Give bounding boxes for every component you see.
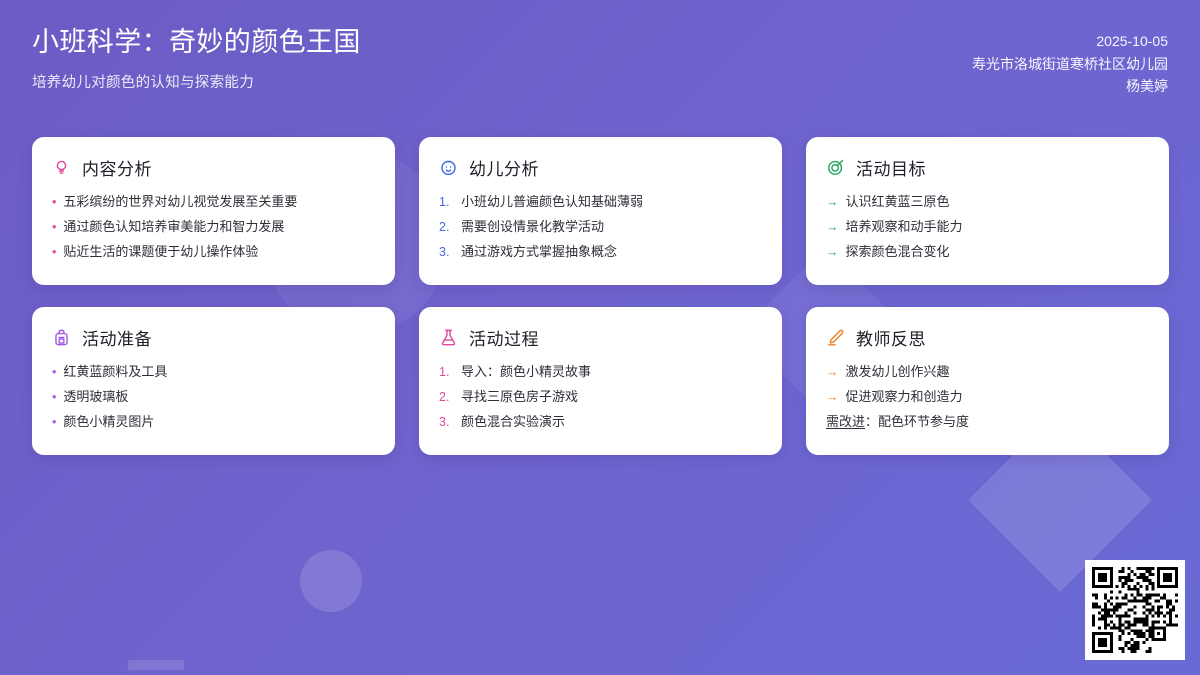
list-marker-bullet: • bbox=[52, 218, 56, 237]
backpack-icon bbox=[52, 328, 71, 347]
flask-icon bbox=[439, 328, 458, 347]
target-icon bbox=[826, 158, 845, 177]
lightbulb-icon bbox=[52, 158, 71, 177]
list-item-text: 认识红黄蓝三原色 bbox=[846, 193, 1150, 212]
card-title: 活动准备 bbox=[82, 325, 152, 350]
card-body: →激发幼儿创作兴趣→促进观察力和创造力需改进：配色环节参与度 bbox=[826, 363, 1149, 431]
list-item-text: 贴近生活的课题便于幼儿操作体验 bbox=[63, 243, 375, 262]
list-item: 1.导入：颜色小精灵故事 bbox=[439, 363, 762, 382]
card-header: 活动准备 bbox=[52, 325, 375, 350]
qr-code-image bbox=[1092, 567, 1178, 653]
list-item-text: 透明玻璃板 bbox=[63, 388, 375, 407]
arrow-icon: → bbox=[826, 193, 839, 212]
list-item-text: 小班幼儿普遍颜色认知基础薄弱 bbox=[461, 193, 762, 212]
list-marker-bullet: • bbox=[52, 413, 56, 432]
card-body: →认识红黄蓝三原色→培养观察和动手能力→探索颜色混合变化 bbox=[826, 193, 1149, 261]
list-marker-bullet: • bbox=[52, 243, 56, 262]
list-item: •颜色小精灵图片 bbox=[52, 413, 375, 432]
list-item: 1.小班幼儿普遍颜色认知基础薄弱 bbox=[439, 193, 762, 212]
card-1: 内容分析•五彩缤纷的世界对幼儿视觉发展至关重要•通过颜色认知培养审美能力和智力发… bbox=[32, 137, 395, 285]
card-body: 1.导入：颜色小精灵故事2.寻找三原色房子游戏3.颜色混合实验演示 bbox=[439, 363, 762, 431]
list-item-text: 导入：颜色小精灵故事 bbox=[461, 363, 762, 382]
page-subtitle: 培养幼儿对颜色的认知与探索能力 bbox=[32, 71, 361, 92]
card-6: 教师反思→激发幼儿创作兴趣→促进观察力和创造力需改进：配色环节参与度 bbox=[806, 307, 1169, 455]
list-marker-number: 1. bbox=[439, 193, 454, 212]
list-marker-bullet: • bbox=[52, 193, 56, 212]
list-item-text: 促进观察力和创造力 bbox=[846, 388, 1150, 407]
list-item-text: 激发幼儿创作兴趣 bbox=[846, 363, 1150, 382]
list-item-text: 探索颜色混合变化 bbox=[846, 243, 1150, 262]
list-item: →认识红黄蓝三原色 bbox=[826, 193, 1149, 212]
list-item: 2.寻找三原色房子游戏 bbox=[439, 388, 762, 407]
list-item: •透明玻璃板 bbox=[52, 388, 375, 407]
meta-organization: 寿光市洛城街道寒桥社区幼儿园 bbox=[972, 53, 1168, 76]
card-body: •红黄蓝颜料及工具•透明玻璃板•颜色小精灵图片 bbox=[52, 363, 375, 431]
card-header: 内容分析 bbox=[52, 155, 375, 180]
list-item-text: 颜色小精灵图片 bbox=[63, 413, 375, 432]
qr-code[interactable] bbox=[1085, 560, 1185, 660]
list-item-text: 通过颜色认知培养审美能力和智力发展 bbox=[63, 218, 375, 237]
improvement-note-detail: ：配色环节参与度 bbox=[865, 414, 969, 429]
list-item-text: 通过游戏方式掌握抽象概念 bbox=[461, 243, 762, 262]
list-marker-number: 3. bbox=[439, 243, 454, 262]
list-marker-number: 2. bbox=[439, 218, 454, 237]
meta-date: 2025-10-05 bbox=[972, 30, 1168, 53]
list-marker-bullet: • bbox=[52, 388, 56, 407]
card-3: 活动目标→认识红黄蓝三原色→培养观察和动手能力→探索颜色混合变化 bbox=[806, 137, 1169, 285]
card-header: 教师反思 bbox=[826, 325, 1149, 350]
slide-root: 小班科学：奇妙的颜色王国 培养幼儿对颜色的认知与探索能力 2025-10-05 … bbox=[0, 0, 1200, 675]
card-header: 活动目标 bbox=[826, 155, 1149, 180]
card-body: 1.小班幼儿普遍颜色认知基础薄弱2.需要创设情景化教学活动3.通过游戏方式掌握抽… bbox=[439, 193, 762, 261]
list-item-text: 颜色混合实验演示 bbox=[461, 413, 762, 432]
card-title: 幼儿分析 bbox=[469, 155, 539, 180]
card-body: •五彩缤纷的世界对幼儿视觉发展至关重要•通过颜色认知培养审美能力和智力发展•贴近… bbox=[52, 193, 375, 261]
card-header: 活动过程 bbox=[439, 325, 762, 350]
list-item: 2.需要创设情景化教学活动 bbox=[439, 218, 762, 237]
arrow-icon: → bbox=[826, 388, 839, 407]
list-item: •红黄蓝颜料及工具 bbox=[52, 363, 375, 382]
list-marker-number: 3. bbox=[439, 413, 454, 432]
list-item: •贴近生活的课题便于幼儿操作体验 bbox=[52, 243, 375, 262]
list-item-text: 寻找三原色房子游戏 bbox=[461, 388, 762, 407]
arrow-icon: → bbox=[826, 243, 839, 262]
decorative-circle-small bbox=[300, 550, 362, 612]
list-item: 3.通过游戏方式掌握抽象概念 bbox=[439, 243, 762, 262]
baby-face-icon bbox=[439, 158, 458, 177]
meta-author: 杨美婷 bbox=[972, 75, 1168, 98]
card-title: 内容分析 bbox=[82, 155, 152, 180]
header-title-group: 小班科学：奇妙的颜色王国 培养幼儿对颜色的认知与探索能力 bbox=[32, 26, 361, 92]
card-4: 活动准备•红黄蓝颜料及工具•透明玻璃板•颜色小精灵图片 bbox=[32, 307, 395, 455]
list-item: •通过颜色认知培养审美能力和智力发展 bbox=[52, 218, 375, 237]
pencil-icon bbox=[826, 328, 845, 347]
list-item: 3.颜色混合实验演示 bbox=[439, 413, 762, 432]
card-2: 幼儿分析1.小班幼儿普遍颜色认知基础薄弱2.需要创设情景化教学活动3.通过游戏方… bbox=[419, 137, 782, 285]
improvement-note: 需改进：配色环节参与度 bbox=[826, 413, 1149, 431]
arrow-icon: → bbox=[826, 218, 839, 237]
decorative-bar bbox=[128, 660, 184, 670]
improvement-note-label: 需改进 bbox=[826, 414, 865, 429]
list-item: →探索颜色混合变化 bbox=[826, 243, 1149, 262]
list-item-text: 需要创设情景化教学活动 bbox=[461, 218, 762, 237]
card-title: 活动目标 bbox=[856, 155, 926, 180]
list-item-text: 红黄蓝颜料及工具 bbox=[63, 363, 375, 382]
list-marker-number: 2. bbox=[439, 388, 454, 407]
arrow-icon: → bbox=[826, 363, 839, 382]
list-item-text: 培养观察和动手能力 bbox=[846, 218, 1150, 237]
card-header: 幼儿分析 bbox=[439, 155, 762, 180]
list-item: →培养观察和动手能力 bbox=[826, 218, 1149, 237]
card-title: 教师反思 bbox=[856, 325, 926, 350]
card-title: 活动过程 bbox=[469, 325, 539, 350]
improvement-note-text: 需改进：配色环节参与度 bbox=[826, 413, 1149, 431]
list-marker-bullet: • bbox=[52, 363, 56, 382]
list-item: •五彩缤纷的世界对幼儿视觉发展至关重要 bbox=[52, 193, 375, 212]
list-item: →促进观察力和创造力 bbox=[826, 388, 1149, 407]
card-grid: 内容分析•五彩缤纷的世界对幼儿视觉发展至关重要•通过颜色认知培养审美能力和智力发… bbox=[32, 137, 1168, 455]
page-title: 小班科学：奇妙的颜色王国 bbox=[32, 26, 361, 60]
card-5: 活动过程1.导入：颜色小精灵故事2.寻找三原色房子游戏3.颜色混合实验演示 bbox=[419, 307, 782, 455]
list-item-text: 五彩缤纷的世界对幼儿视觉发展至关重要 bbox=[63, 193, 375, 212]
slide-header: 小班科学：奇妙的颜色王国 培养幼儿对颜色的认知与探索能力 2025-10-05 … bbox=[0, 0, 1200, 120]
list-marker-number: 1. bbox=[439, 363, 454, 382]
list-item: →激发幼儿创作兴趣 bbox=[826, 363, 1149, 382]
header-meta: 2025-10-05 寿光市洛城街道寒桥社区幼儿园 杨美婷 bbox=[972, 30, 1168, 98]
